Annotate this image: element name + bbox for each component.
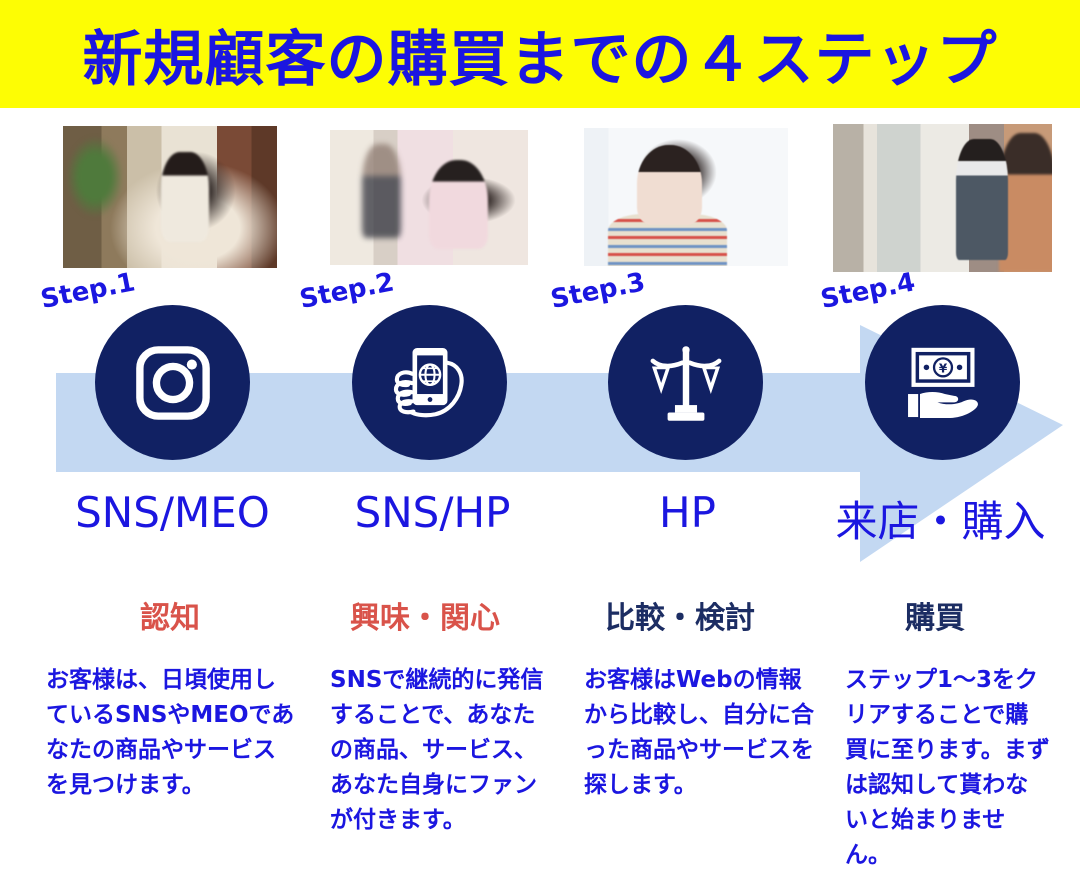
hand-holding-yen-banknote-icon: ¥ <box>897 337 989 429</box>
stage-heading-2: 興味・関心 <box>285 593 565 637</box>
step-circle-2[interactable] <box>352 305 507 460</box>
service-label-3: HP <box>545 488 830 537</box>
svg-text:¥: ¥ <box>938 361 947 375</box>
stage-heading-3: 比較・検討 <box>540 593 820 637</box>
body-text-4: ステップ1〜3をクリアすることで購買に至ります。まずは認知して貰わないと始まりま… <box>845 663 1050 873</box>
infographic-stage: 新規顧客の購買までの４ステップ Step.1 Step.2 Step.3 Ste… <box>0 0 1080 873</box>
page-title: 新規顧客の購買までの４ステップ <box>0 0 1080 108</box>
step-circle-3[interactable] <box>608 305 763 460</box>
body-text-1: お客様は、日頃使用しているSNSやMEOであなたの商品やサービスを見つけます。 <box>46 663 296 803</box>
stage-heading-1: 認知 <box>30 593 310 637</box>
step-tag-3: Step.3 <box>548 267 647 315</box>
stage-heading-4: 購買 <box>795 593 1075 637</box>
hand-holding-smartphone-globe-icon <box>384 337 476 429</box>
step-circle-1[interactable] <box>95 305 250 460</box>
step-tag-4: Step.4 <box>818 267 917 315</box>
step-photo-2 <box>330 130 528 265</box>
title-banner: 新規顧客の購買までの４ステップ <box>0 0 1080 108</box>
step-tag-1: Step.1 <box>38 267 137 315</box>
balance-scales-icon <box>640 337 732 429</box>
body-text-3: お客様はWebの情報から比較し、自分に合った商品やサービスを探します。 <box>584 663 814 803</box>
service-label-1: SNS/MEO <box>30 488 315 537</box>
instagram-icon <box>127 337 219 429</box>
service-label-4: 来店・購入 <box>798 488 1080 549</box>
step-photo-1 <box>63 126 277 268</box>
body-text-2: SNSで継続的に発信することで、あなたの商品、サービス、あなた自身にファンが付き… <box>330 663 558 838</box>
service-label-2: SNS/HP <box>290 488 575 537</box>
step-photo-4 <box>833 124 1052 272</box>
step-tag-2: Step.2 <box>297 267 396 315</box>
step-photo-3 <box>584 128 788 266</box>
step-circle-4[interactable]: ¥ <box>865 305 1020 460</box>
